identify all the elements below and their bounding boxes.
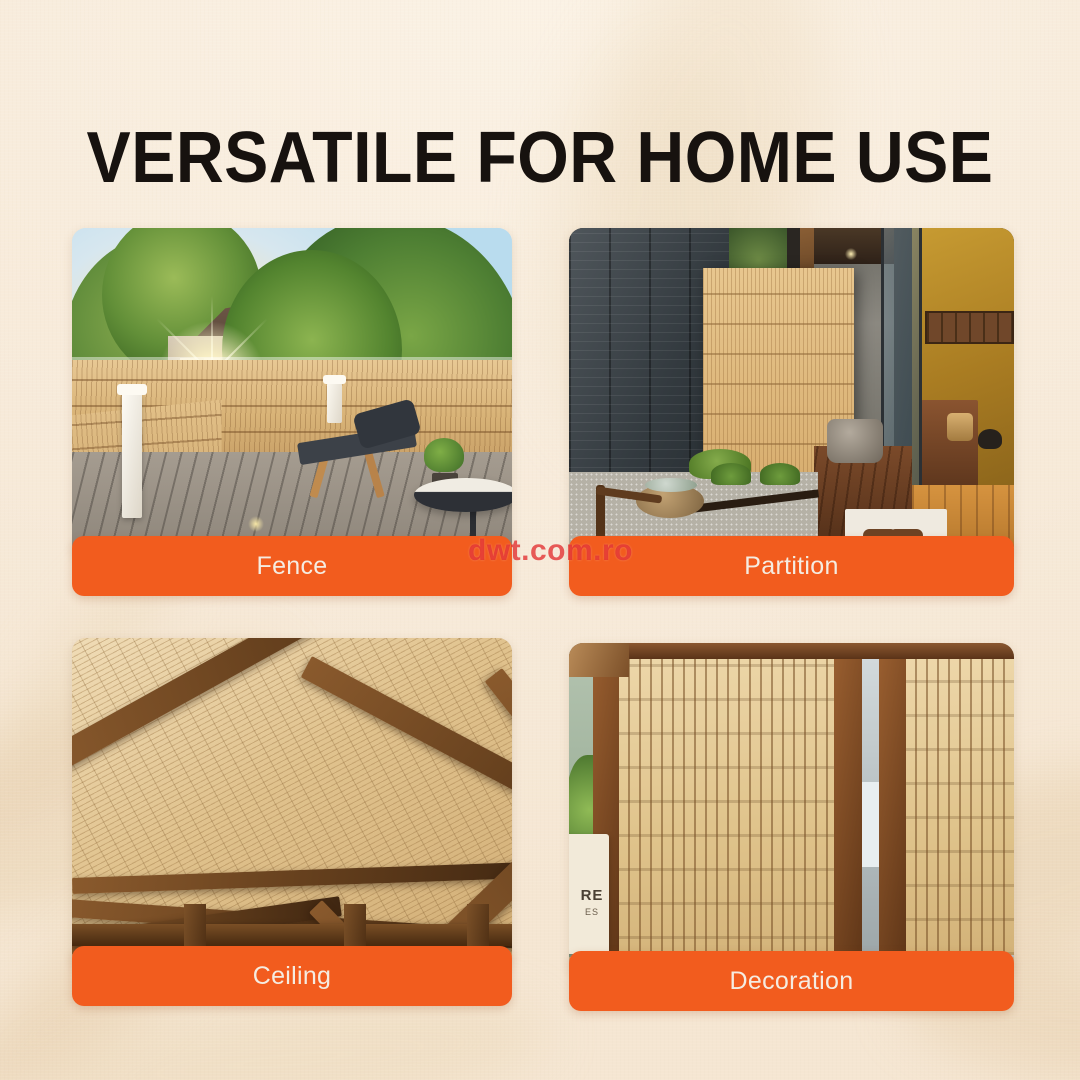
wooden-frame-post — [834, 643, 862, 973]
ornamental-grass — [760, 463, 800, 485]
wall-shelf — [925, 311, 1014, 345]
stone-basin — [827, 419, 883, 463]
ceiling-light-icon — [845, 248, 857, 260]
reed-screen-panel — [617, 643, 834, 973]
page-title: VERSATILE FOR HOME USE — [43, 120, 1037, 196]
card-label-text: Fence — [257, 552, 328, 581]
card-label-text: Ceiling — [253, 962, 332, 991]
frame-head-beam — [569, 643, 1014, 659]
fence-post — [122, 393, 142, 518]
feature-card-ceiling[interactable]: Ceiling — [72, 638, 512, 1006]
timber-corner — [569, 643, 629, 677]
sign-text-line1: RE — [569, 887, 615, 904]
water-surface — [645, 478, 697, 492]
card-label-fence[interactable]: Fence — [72, 536, 512, 596]
balcony-railing — [862, 782, 880, 868]
photo-reed-screen-divider: RE ES — [569, 643, 1014, 973]
wooden-frame-post — [879, 643, 906, 973]
card-label-text: Partition — [744, 552, 838, 581]
ornamental-grass — [711, 463, 751, 485]
pergola-cross-beam — [72, 924, 512, 946]
card-label-decoration[interactable]: Decoration — [569, 951, 1014, 1011]
ceramic-jar — [947, 413, 973, 441]
card-label-text: Decoration — [730, 967, 854, 996]
feature-card-partition[interactable]: Partition — [569, 228, 1014, 596]
lens-flare — [248, 516, 264, 532]
feature-card-decoration[interactable]: RE ES Decoration — [569, 643, 1014, 1011]
iron-kettle — [978, 429, 1002, 449]
photo-pergola-reed-ceiling — [72, 638, 512, 968]
photo-rooftop-deck-fence — [72, 228, 512, 558]
fence-top-rail — [72, 357, 512, 360]
potted-plant — [424, 438, 464, 472]
reed-screen-panel — [904, 651, 1014, 955]
sign-text-line2: ES — [569, 907, 615, 917]
promo-banner: VERSATILE FOR HOME USE — [0, 0, 1080, 1080]
card-label-ceiling[interactable]: Ceiling — [72, 946, 512, 1006]
feature-card-grid: Fence — [72, 228, 1009, 1013]
photo-japanese-courtyard-partition — [569, 228, 1014, 558]
card-label-partition[interactable]: Partition — [569, 536, 1014, 596]
feature-card-fence[interactable]: Fence — [72, 228, 512, 596]
lounge-chair — [298, 416, 420, 492]
side-table — [414, 478, 512, 512]
